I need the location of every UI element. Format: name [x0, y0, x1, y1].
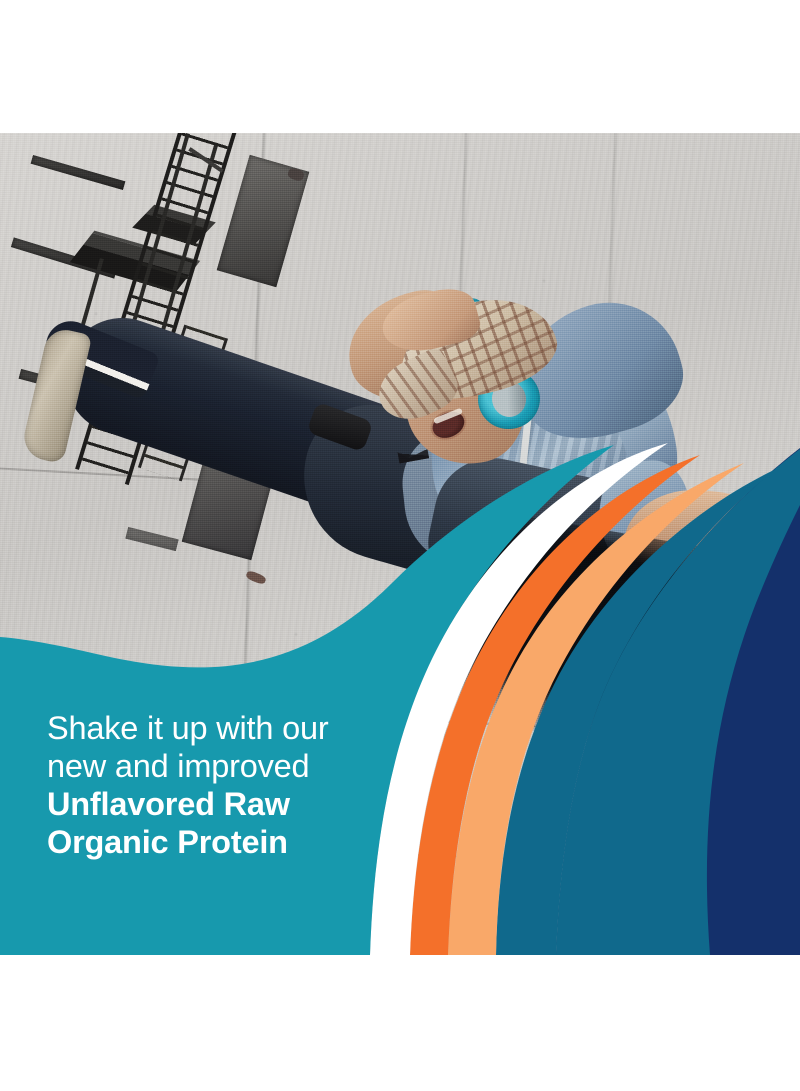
headline-line-2: new and improved	[47, 747, 417, 785]
promo-headline: Shake it up with our new and improved Un…	[47, 709, 417, 861]
headline-line-4: Organic Protein	[47, 823, 417, 861]
headline-line-1: Shake it up with our	[47, 709, 417, 747]
headline-line-3: Unflavored Raw	[47, 785, 417, 823]
promo-canvas: Shake it up with our new and improved Un…	[0, 0, 800, 1091]
